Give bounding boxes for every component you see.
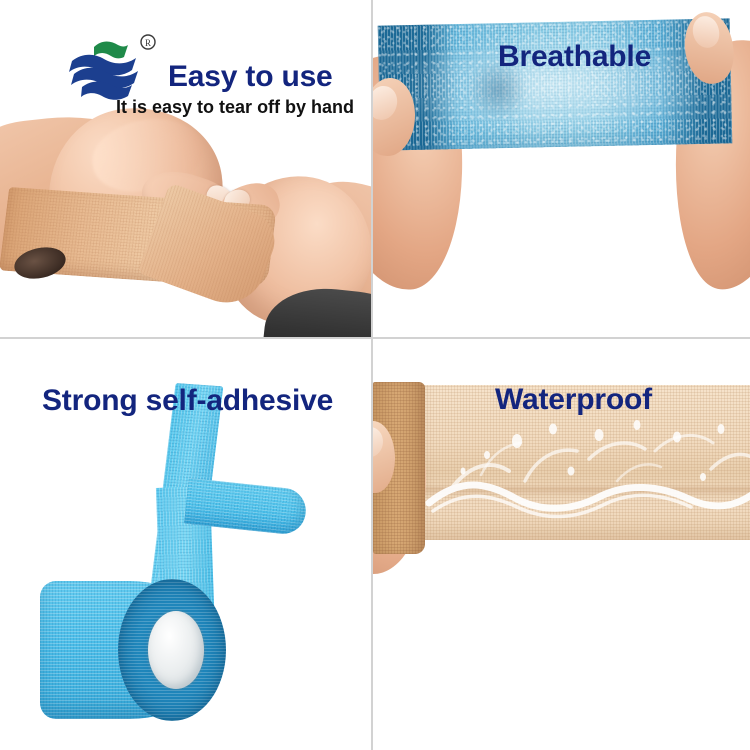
panel-easy-to-use: R Easy to use It is easy to tear off by … <box>0 0 371 337</box>
panel-title-easy-to-use: Easy to use <box>168 62 333 92</box>
trademark-glyph: R <box>145 38 151 48</box>
feature-grid: R Easy to use It is easy to tear off by … <box>0 0 750 750</box>
panel-waterproof: Waterproof <box>373 339 750 750</box>
panel-breathable: Breathable <box>373 0 750 337</box>
product-feature-grid: R Easy to use It is easy to tear off by … <box>0 0 750 750</box>
panel-subtitle-easy-to-use: It is easy to tear off by hand <box>116 98 354 116</box>
bandage-roll-core <box>148 611 204 689</box>
panel-title-waterproof: Waterproof <box>495 385 652 415</box>
panel-strong-self-adhesive: Strong self-adhesive <box>0 339 371 750</box>
bandage-texture <box>378 18 733 150</box>
blue-bandage-stretched <box>378 18 733 150</box>
panel-title-breathable: Breathable <box>498 42 651 72</box>
easy-to-use-photo <box>0 0 371 337</box>
wave-flag-logo: R <box>68 30 163 102</box>
panel-title-strong-self-adhesive: Strong self-adhesive <box>42 386 333 416</box>
